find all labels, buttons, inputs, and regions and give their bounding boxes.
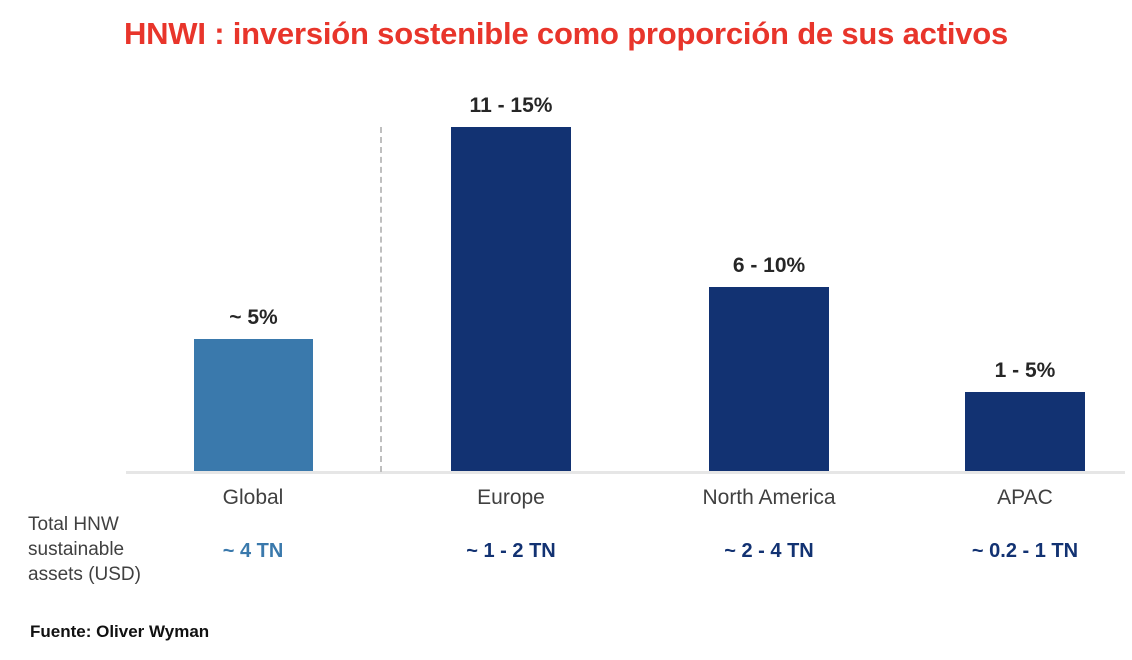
bar-global[interactable]: ~ 5% <box>194 339 313 471</box>
bar-rect-apac <box>965 392 1085 471</box>
total-assets-value-global: ~ 4 TN <box>113 540 393 563</box>
bar-value-label-north-america: 6 - 10% <box>733 254 805 278</box>
source-note: Fuente: Oliver Wyman <box>30 622 209 642</box>
category-label-europe: Europe <box>371 486 651 510</box>
bar-apac[interactable]: 1 - 5% <box>965 392 1085 471</box>
bar-north-america[interactable]: 6 - 10% <box>709 287 829 471</box>
bar-rect-global <box>194 339 313 471</box>
chart-plot-area: ~ 5% 11 - 15% 6 - 10% 1 - 5% Global Euro… <box>0 0 1132 660</box>
x-axis-baseline <box>126 471 1125 474</box>
total-assets-value-north-america: ~ 2 - 4 TN <box>629 540 909 563</box>
bar-value-label-apac: 1 - 5% <box>995 359 1056 383</box>
bar-rect-europe <box>451 127 571 471</box>
bar-value-label-global: ~ 5% <box>229 306 277 330</box>
total-assets-value-europe: ~ 1 - 2 TN <box>371 540 651 563</box>
category-label-apac: APAC <box>885 486 1132 510</box>
bar-value-label-europe: 11 - 15% <box>470 94 553 118</box>
category-label-north-america: North America <box>629 486 909 510</box>
group-divider-dashed-line <box>380 127 382 472</box>
bar-europe[interactable]: 11 - 15% <box>451 127 571 471</box>
category-label-global: Global <box>113 486 393 510</box>
bar-rect-north-america <box>709 287 829 471</box>
total-assets-value-apac: ~ 0.2 - 1 TN <box>885 540 1132 563</box>
total-assets-row-caption: Total HNW sustainable assets (USD) <box>28 512 148 587</box>
